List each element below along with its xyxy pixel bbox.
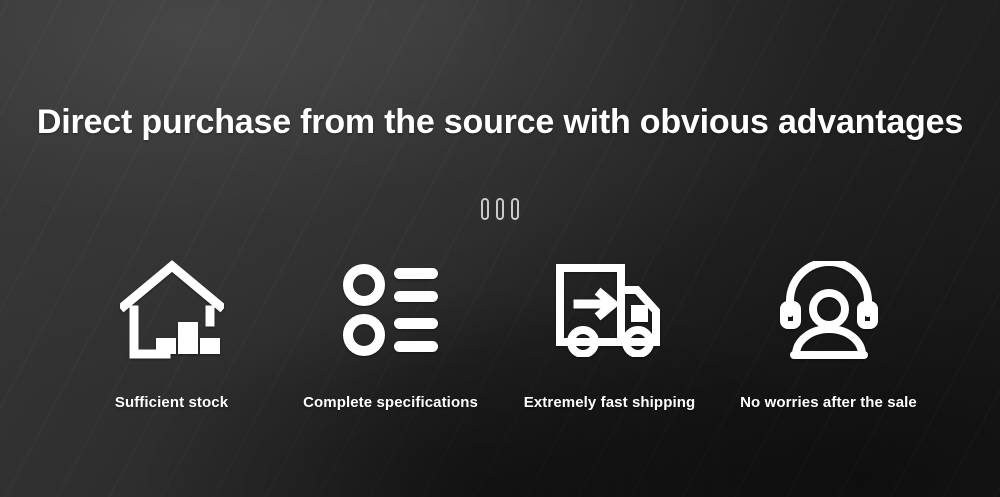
delivery-truck-icon — [555, 258, 665, 362]
headset-support-icon — [779, 258, 879, 362]
feature-item-extremely-fast-shipping[interactable]: Extremely fast shipping — [500, 258, 719, 411]
advantages-banner: Direct purchase from the source with obv… — [0, 0, 1000, 497]
feature-list: Sufficient stock Complete specifications — [62, 258, 938, 411]
divider-pip-icon — [481, 198, 489, 220]
warehouse-stock-icon — [120, 258, 224, 362]
feature-item-no-worries-after-the-sale[interactable]: No worries after the sale — [719, 258, 938, 411]
feature-label: No worries after the sale — [740, 394, 917, 411]
specification-list-icon — [341, 258, 441, 362]
pill-divider — [0, 198, 1000, 220]
page-title: Direct purchase from the source with obv… — [0, 103, 1000, 142]
feature-label: Sufficient stock — [115, 394, 228, 411]
divider-pip-icon — [511, 198, 519, 220]
divider-pip-icon — [496, 198, 504, 220]
feature-item-complete-specifications[interactable]: Complete specifications — [281, 258, 500, 411]
feature-item-sufficient-stock[interactable]: Sufficient stock — [62, 258, 281, 411]
feature-label: Complete specifications — [303, 394, 478, 411]
feature-label: Extremely fast shipping — [524, 394, 696, 411]
